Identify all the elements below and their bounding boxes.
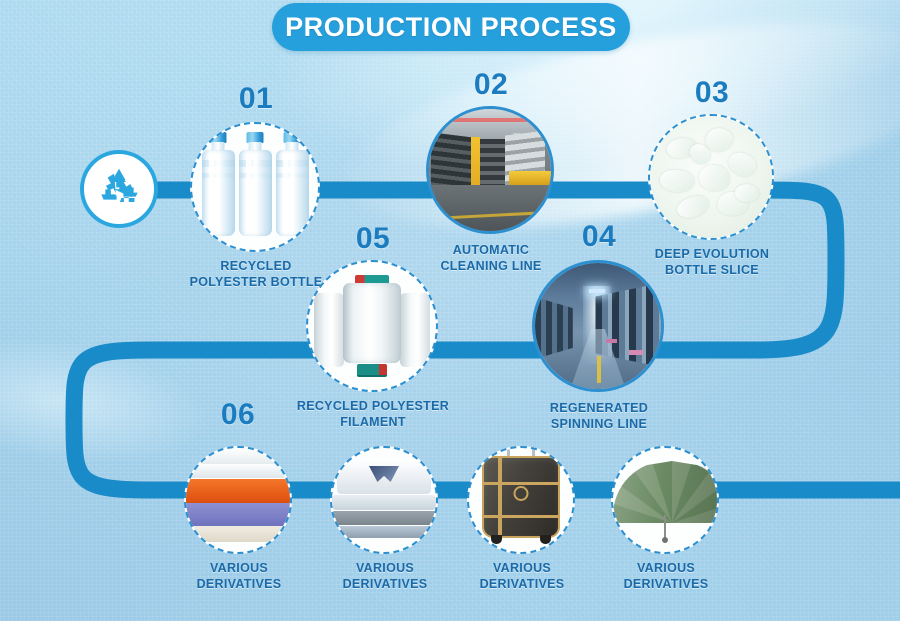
spinning-line-photo	[535, 263, 661, 389]
yarn-spool-photo	[308, 262, 436, 390]
step-number-06-wrap: 06	[198, 398, 278, 438]
step-image-02	[426, 106, 554, 234]
step-label-05: RECYCLED POLYESTER FILAMENT	[263, 398, 483, 430]
step-number-02: 02	[426, 68, 556, 102]
recycle-badge	[80, 150, 158, 228]
pet-flakes-photo	[650, 116, 772, 238]
derivative-label-4-line1: VARIOUS	[556, 560, 776, 576]
step-number-06: 06	[198, 398, 278, 432]
automatic-cleaning-line-photo	[429, 109, 551, 231]
umbrella-photo	[613, 448, 717, 552]
yarn-spool-left	[314, 293, 344, 367]
step-image-05	[306, 260, 438, 392]
folded-shirts-photo	[332, 448, 436, 552]
step-image-01	[190, 122, 320, 252]
step-node-01[interactable]: 01 RECYCLED POLYESTER BOTTLE	[190, 82, 322, 282]
recycle-icon	[93, 163, 145, 215]
step-number-05: 05	[306, 222, 440, 256]
suitcase-photo	[469, 448, 573, 552]
page-title: PRODUCTION PROCESS	[272, 3, 630, 51]
step-number-03: 03	[648, 76, 776, 110]
derivative-node-4[interactable]: VARIOUS DERIVATIVES	[611, 446, 721, 606]
derivative-image-3	[467, 446, 575, 554]
step-number-01: 01	[190, 82, 322, 116]
stacked-towels-photo	[186, 448, 290, 552]
yarn-spool-right	[400, 293, 430, 367]
step-number-04: 04	[532, 220, 666, 254]
infographic-canvas: PRODUCTION PROCESS 01	[0, 0, 900, 621]
yarn-spool-center	[343, 275, 401, 377]
page-title-text: PRODUCTION PROCESS	[285, 12, 617, 43]
step-image-03	[648, 114, 774, 240]
step-label-04-line1: REGENERATED	[489, 400, 709, 416]
step-node-04[interactable]: 04 REGENERATED SPINNING LINE	[532, 220, 666, 440]
derivative-image-1	[184, 446, 292, 554]
derivative-label-4: VARIOUS DERIVATIVES	[556, 560, 776, 592]
step-label-05-line1: RECYCLED POLYESTER	[263, 398, 483, 414]
step-label-04-line2: SPINNING LINE	[489, 416, 709, 432]
step-node-05[interactable]: 05 RECYCLED POLYESTER FILAMENT	[306, 222, 440, 442]
step-label-04: REGENERATED SPINNING LINE	[489, 400, 709, 432]
step-label-05-line2: FILAMENT	[263, 414, 483, 430]
derivative-label-4-line2: DERIVATIVES	[556, 576, 776, 592]
step-node-03[interactable]: 03 DEEP EVOLUTION BOTTLE SLICE	[648, 76, 776, 276]
derivative-image-4	[611, 446, 719, 554]
plastic-bottles-photo	[192, 124, 318, 250]
derivative-image-2	[330, 446, 438, 554]
step-image-04	[532, 260, 664, 392]
